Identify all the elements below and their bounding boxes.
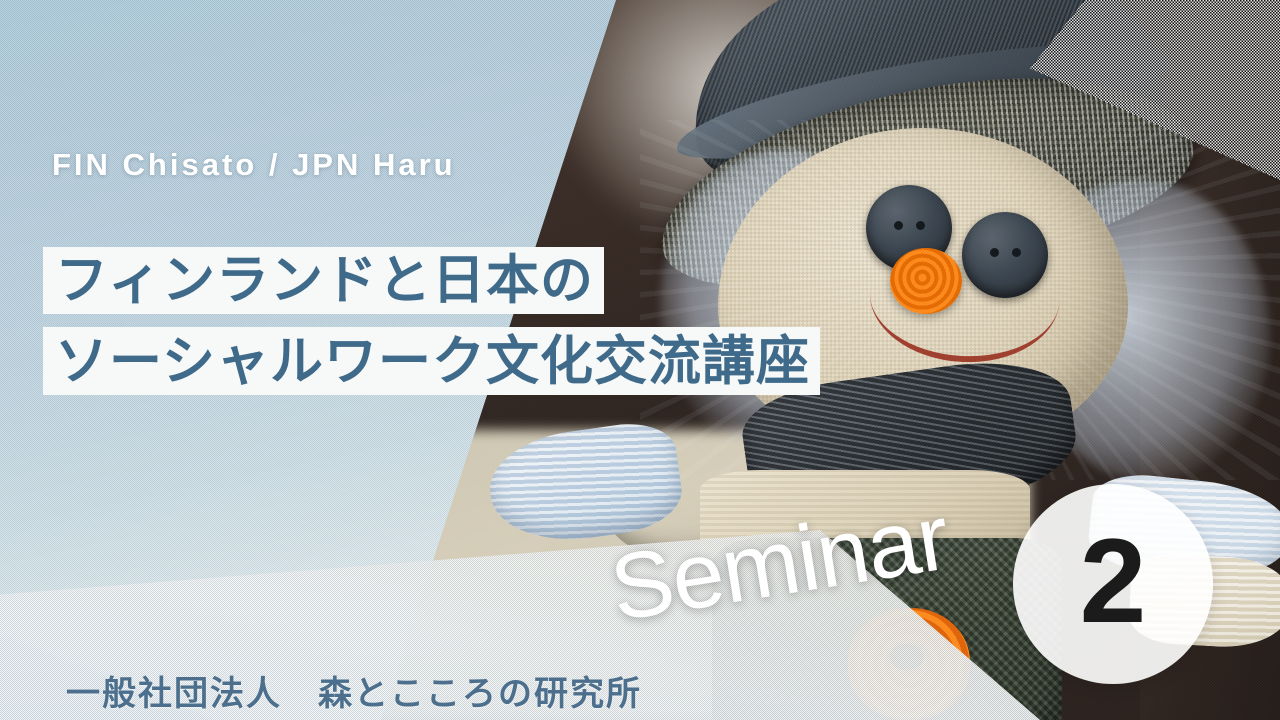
title-line-1: フィンランドと日本の [43, 247, 604, 314]
episode-number-badge: 2 [1013, 484, 1213, 684]
organization-name: 一般社団法人 森とこころの研究所 [66, 666, 642, 715]
banner-canvas: FIN Chisato / JPN Haru フィンランドと日本の ソーシャルワ… [0, 0, 1280, 720]
title-line-2: ソーシャルワーク文化交流講座 [43, 327, 820, 395]
presenter-subtitle: FIN Chisato / JPN Haru [52, 147, 456, 183]
episode-number: 2 [1080, 521, 1147, 641]
doll-button-eye-right-icon [962, 212, 1048, 298]
